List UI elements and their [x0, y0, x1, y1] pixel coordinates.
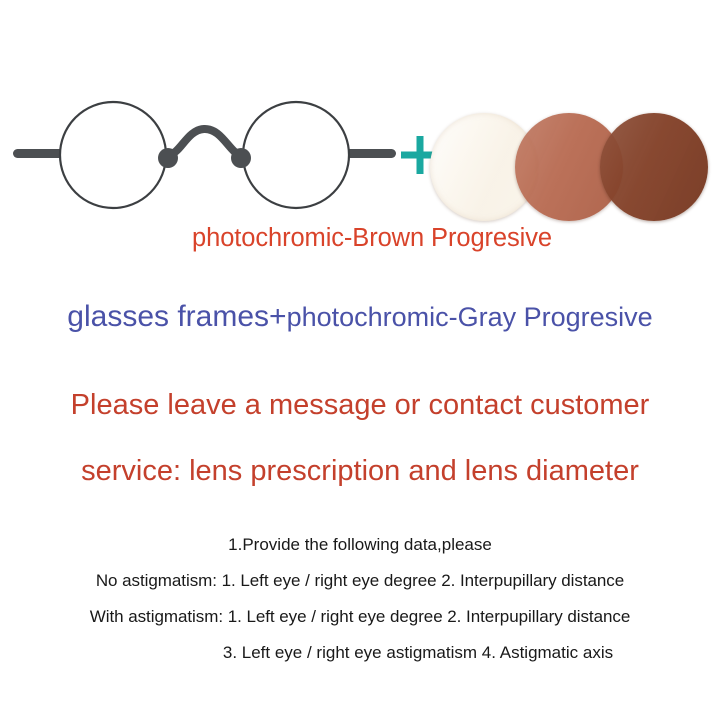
- instruction-line-3: With astigmatism: 1. Left eye / right ey…: [0, 599, 720, 635]
- prescription-instructions: 1.Provide the following data,please No a…: [0, 527, 720, 671]
- right-lens-rim: [243, 102, 349, 208]
- headline-segment-frames: glasses frames+: [67, 300, 286, 333]
- left-lens-rim: [60, 102, 166, 208]
- glasses-frame-illustration: [8, 88, 400, 223]
- service-note: Please leave a message or contact custom…: [0, 372, 720, 504]
- nose-bridge: [168, 129, 241, 155]
- photochromic-lens-swatches: [428, 108, 714, 228]
- lens-disc-dark: [600, 113, 708, 221]
- gray-lens-headline: glasses frames+photochromic-Gray Progres…: [0, 300, 720, 334]
- service-note-line-1: Please leave a message or contact custom…: [0, 372, 720, 438]
- hinge-dot-right: [231, 148, 251, 168]
- brown-lens-caption: photochromic-Brown Progresive: [0, 224, 720, 253]
- instruction-line-4: 3. Left eye / right eye astigmatism 4. A…: [0, 635, 720, 671]
- hinge-dot-left: [158, 148, 178, 168]
- headline-segment-lens: photochromic-Gray Progresive: [287, 302, 653, 332]
- service-note-line-2: service: lens prescription and lens diam…: [0, 438, 720, 504]
- instruction-line-2: No astigmatism: 1. Left eye / right eye …: [0, 563, 720, 599]
- instruction-line-1: 1.Provide the following data,please: [0, 527, 720, 563]
